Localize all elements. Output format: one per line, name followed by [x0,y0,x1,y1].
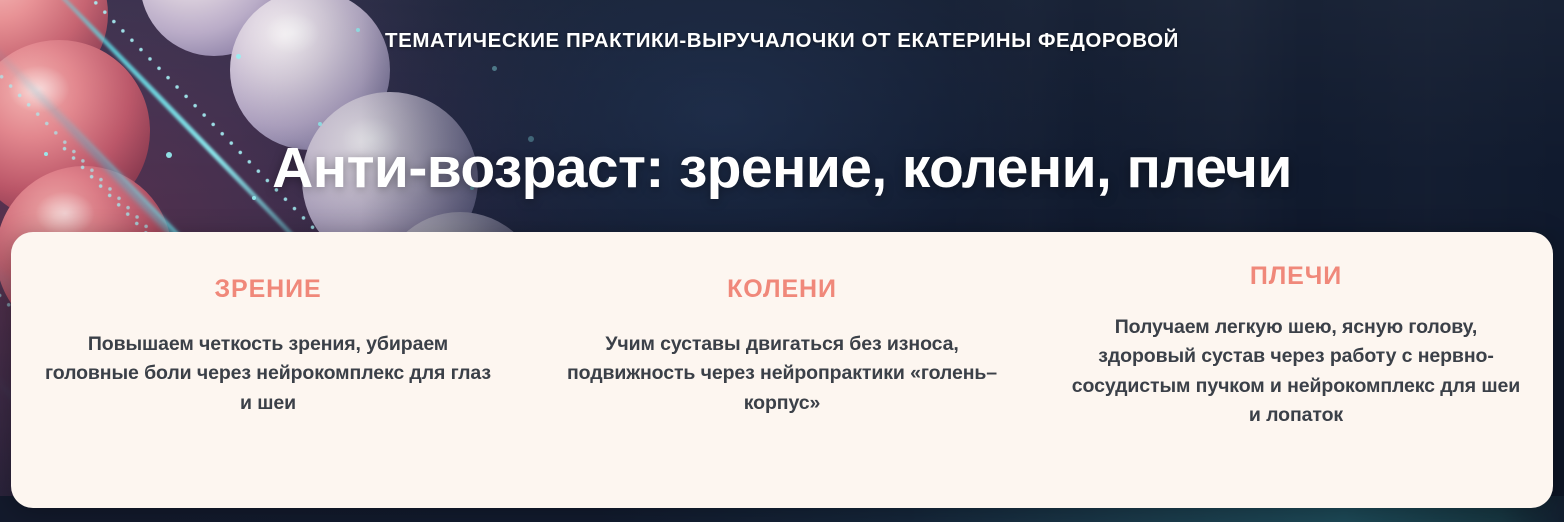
benefit-column-shoulders: ПЛЕЧИ Получаем легкую шею, ясную голову,… [1039,232,1553,431]
hero-eyebrow: ТЕМАТИЧЕСКИЕ ПРАКТИКИ-ВЫРУЧАЛОЧКИ ОТ ЕКА… [0,30,1564,53]
benefit-column-knees: КОЛЕНИ Учим суставы двигаться без износа… [525,232,1039,418]
benefit-body-shoulders: Получаем легкую шею, ясную голову, здоро… [1071,313,1521,432]
benefit-body-knees: Учим суставы двигаться без износа, подви… [562,330,1002,419]
hero-banner: ТЕМАТИЧЕСКИЕ ПРАКТИКИ-ВЫРУЧАЛОЧКИ ОТ ЕКА… [0,0,1564,522]
benefit-body-vision: Повышаем четкость зрения, убираем головн… [42,330,494,419]
benefit-title-vision: ЗРЕНИЕ [37,276,499,304]
benefit-title-shoulders: ПЛЕЧИ [1065,263,1527,291]
benefit-title-knees: КОЛЕНИ [551,276,1013,304]
benefit-column-vision: ЗРЕНИЕ Повышаем четкость зрения, убираем… [11,232,525,418]
benefits-card: ЗРЕНИЕ Повышаем четкость зрения, убираем… [11,232,1553,508]
page-title: Анти-возраст: зрение, колени, плечи [0,137,1564,201]
